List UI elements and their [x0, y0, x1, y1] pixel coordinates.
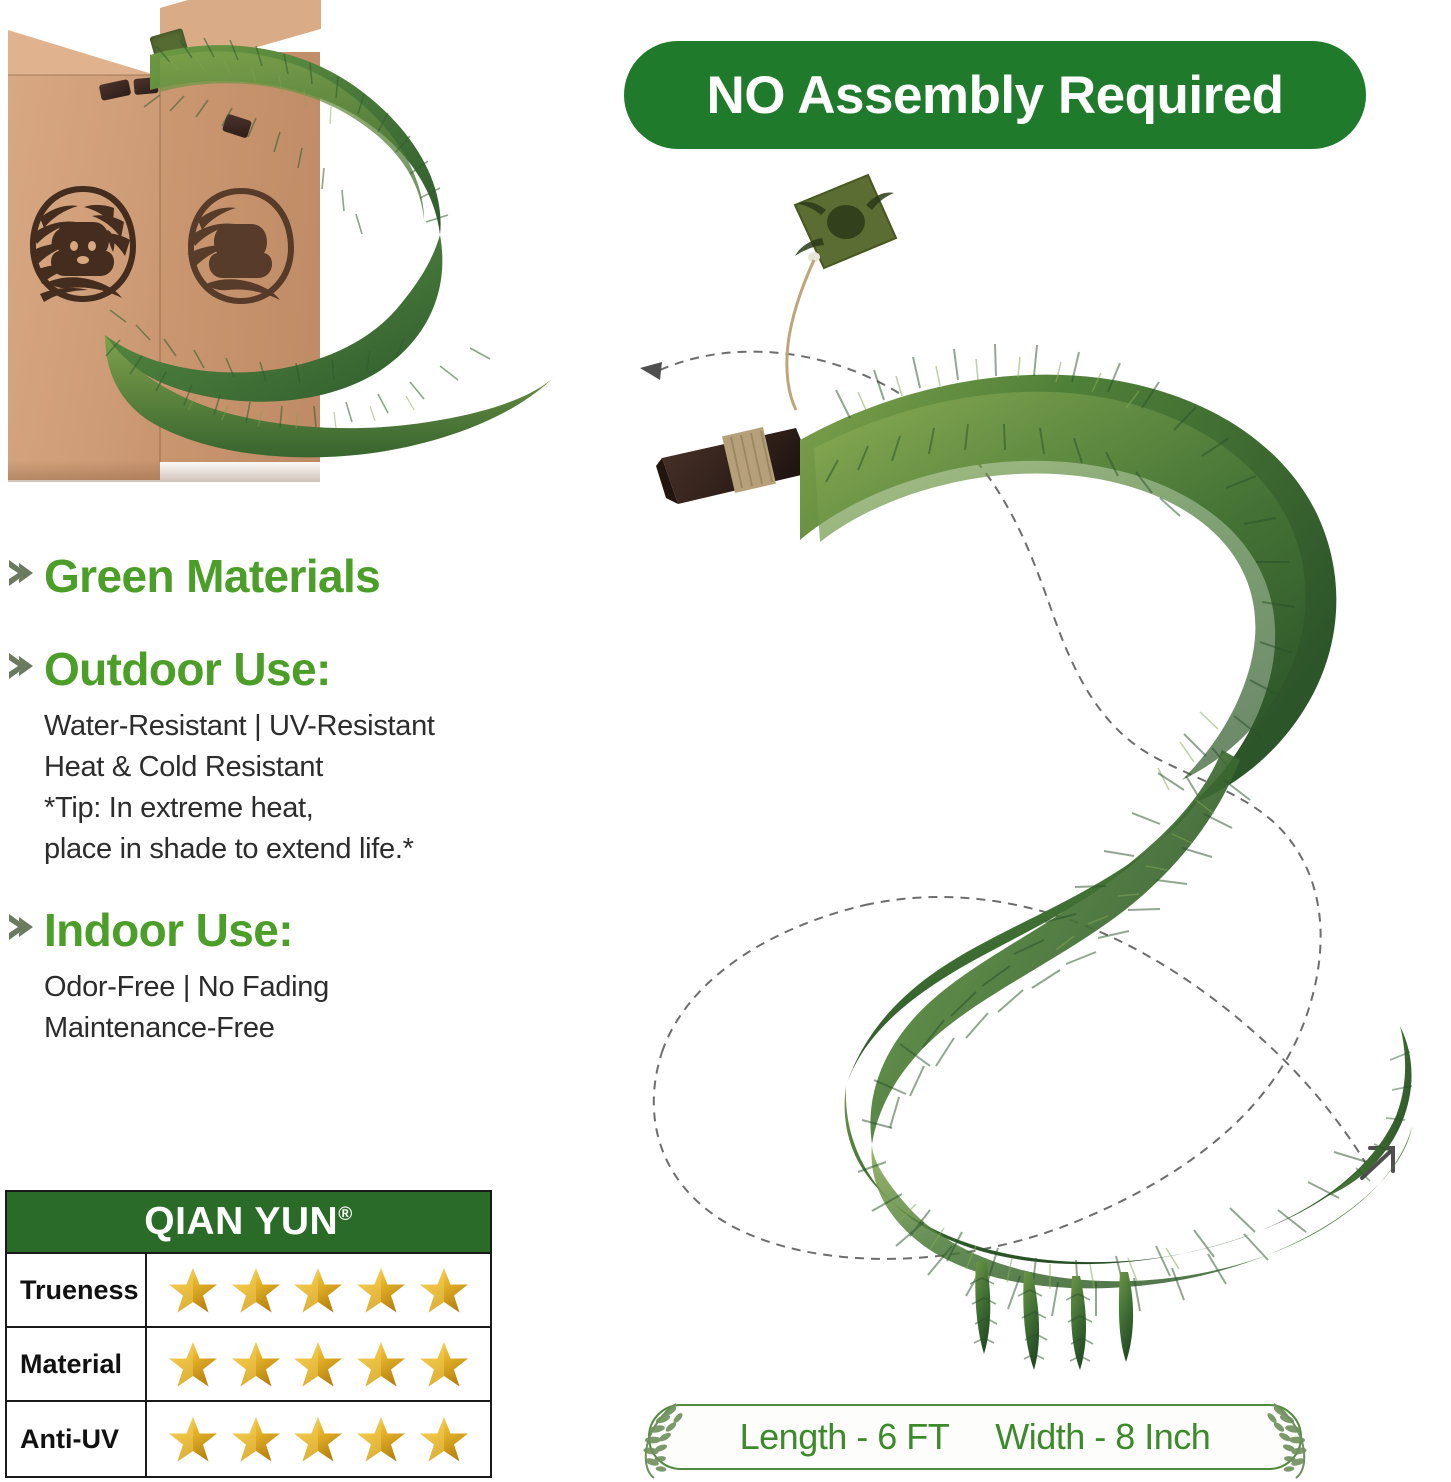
feature-detail-lines: Odor-Free | No Fading Maintenance-Free [44, 967, 520, 1049]
feature-detail-line: Water-Resistant | UV-Resistant [44, 706, 520, 747]
measurement-path-end [865, 897, 1370, 1170]
feature-detail-line: Heat & Cold Resistant [44, 747, 520, 788]
feature-title: Outdoor Use: [44, 645, 520, 694]
laurel-branch-icon [1264, 1398, 1318, 1480]
no-assembly-banner: NO Assembly Required [624, 41, 1366, 149]
product-hang-tag [787, 175, 896, 410]
star-icon [293, 1414, 343, 1464]
garland-bound-stem [656, 427, 814, 504]
star-icon [419, 1414, 469, 1464]
feature-title: Green Materials [44, 552, 520, 601]
rating-stars [147, 1402, 490, 1476]
no-assembly-headline: NO Assembly Required [706, 65, 1283, 126]
feature-outdoor-use: Outdoor Use: Water-Resistant | UV-Resist… [0, 645, 520, 870]
rating-label: Material [7, 1328, 147, 1400]
star-icon [356, 1265, 406, 1315]
star-icon [293, 1339, 343, 1389]
chevron-right-icon [0, 552, 44, 590]
feature-detail-line: *Tip: In extreme heat, [44, 788, 520, 829]
star-icon [231, 1265, 281, 1315]
ratings-table: QIAN YUN® Trueness Material Ant [5, 1190, 492, 1478]
feature-green-materials: Green Materials [0, 552, 520, 601]
ratings-table-header: QIAN YUN® [7, 1192, 490, 1254]
star-icon [419, 1265, 469, 1315]
laurel-branch-icon [632, 1398, 686, 1480]
rating-label: Trueness [7, 1254, 147, 1326]
registered-trademark-mark: ® [338, 1204, 353, 1225]
arrow-left-marker-icon [640, 362, 662, 380]
feature-detail-lines: Water-Resistant | UV-Resistant Heat & Co… [44, 706, 520, 871]
star-icon [419, 1339, 469, 1389]
star-icon [231, 1339, 281, 1389]
garland-segment-lower [845, 1044, 1412, 1370]
rating-stars [147, 1328, 490, 1400]
star-icon [168, 1414, 218, 1464]
table-row: Trueness [7, 1254, 490, 1328]
package-box-photo [0, 0, 560, 500]
star-icon [231, 1414, 281, 1464]
feature-list: Green Materials Outdoor Use: Water-Resis… [0, 552, 520, 1049]
star-icon [356, 1414, 406, 1464]
garland-segment-upper [800, 344, 1336, 804]
chevron-right-icon [0, 906, 44, 944]
feature-detail-line: Odor-Free | No Fading [44, 967, 520, 1008]
rating-label: Anti-UV [7, 1402, 147, 1476]
garland-segment-middle [846, 734, 1250, 1144]
feature-title: Indoor Use: [44, 906, 520, 955]
infographic-page: NO Assembly Required Green Materials [0, 0, 1451, 1482]
brand-name-text: QIAN YUN [144, 1200, 338, 1243]
feature-indoor-use: Indoor Use: Odor-Free | No Fading Mainte… [0, 906, 520, 1049]
box-garland-drape [0, 0, 560, 500]
feature-detail-line: place in shade to extend life.* [44, 829, 520, 870]
rating-stars [147, 1254, 490, 1326]
star-icon [293, 1265, 343, 1315]
width-label: Width - 8 Inch [995, 1416, 1210, 1458]
dimensions-banner: Length - 6 FT Width - 8 Inch [648, 1404, 1302, 1470]
star-icon [356, 1339, 406, 1389]
measurement-path-tail [662, 905, 865, 1052]
brand-name: QIAN YUN® [144, 1200, 352, 1244]
chevron-right-icon [0, 645, 44, 683]
table-row: Anti-UV [7, 1402, 490, 1476]
garland-product-photo [600, 160, 1451, 1400]
star-icon [168, 1339, 218, 1389]
table-row: Material [7, 1328, 490, 1402]
feature-detail-line: Maintenance-Free [44, 1008, 520, 1049]
star-icon [168, 1265, 218, 1315]
length-label: Length - 6 FT [740, 1416, 950, 1458]
